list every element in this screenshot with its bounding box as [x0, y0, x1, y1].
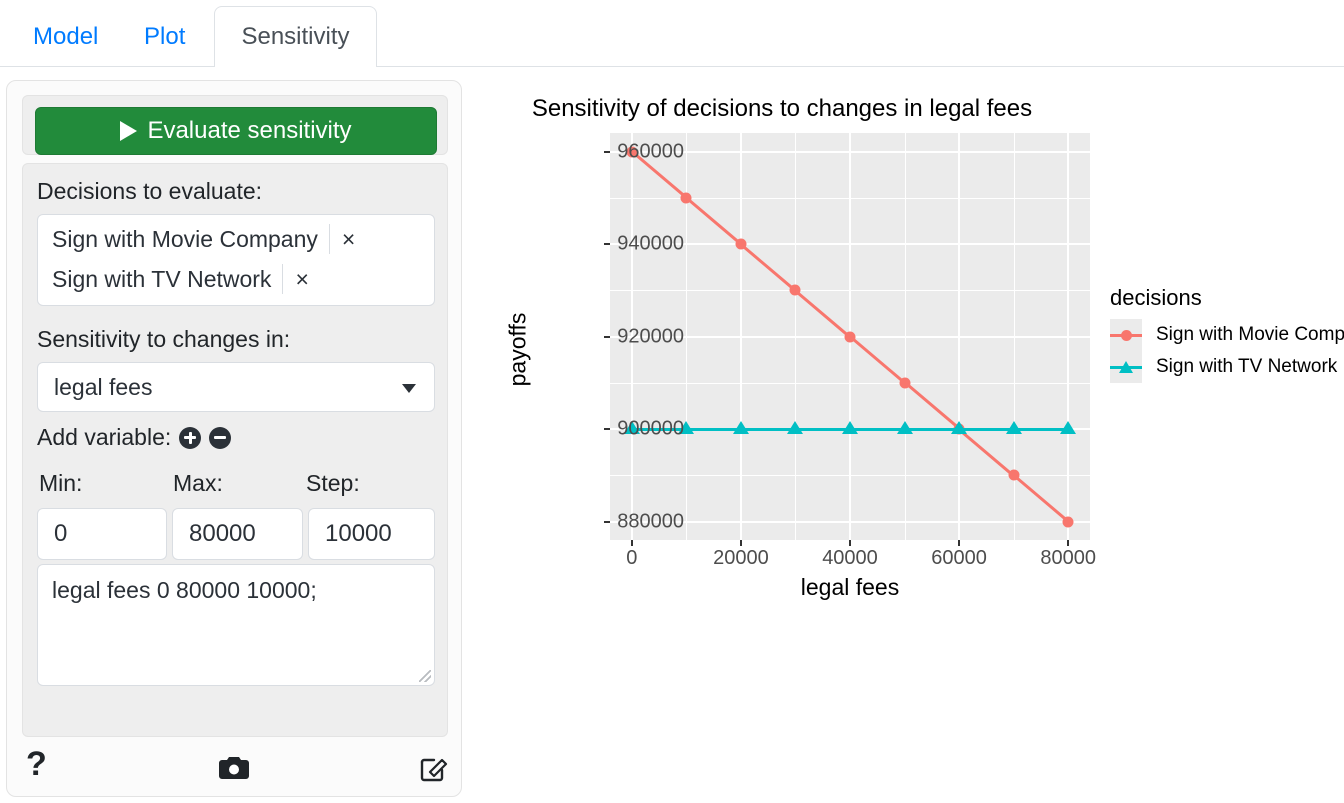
- series-line: [685, 197, 741, 246]
- variable-definition-text: legal fees 0 80000 10000;: [52, 577, 317, 603]
- data-point: [1060, 421, 1076, 434]
- data-point: [845, 331, 856, 342]
- camera-icon-svg: [218, 755, 250, 781]
- chart-title: Sensitivity of decisions to changes in l…: [466, 95, 1098, 123]
- decision-token[interactable]: Sign with Movie Company ×: [38, 219, 434, 259]
- min-input[interactable]: 0: [37, 508, 167, 560]
- variable-select[interactable]: legal fees: [37, 362, 435, 412]
- series-line: [958, 428, 1014, 477]
- decision-token-label: Sign with Movie Company: [52, 226, 318, 253]
- series-line: [740, 243, 796, 292]
- data-point: [1006, 421, 1022, 434]
- gridline-major: [1067, 133, 1069, 540]
- decision-token-label: Sign with TV Network: [52, 266, 271, 293]
- x-tick-mark: [1067, 540, 1069, 546]
- data-point: [897, 421, 913, 434]
- data-point: [735, 239, 746, 250]
- x-tick-mark: [740, 540, 742, 546]
- y-tick-label: 900000: [617, 418, 684, 441]
- series-line: [1013, 474, 1069, 523]
- legend-key-movie: [1110, 319, 1142, 351]
- data-point: [899, 377, 910, 388]
- tab-sensitivity[interactable]: Sensitivity: [214, 6, 377, 67]
- remove-decision-icon[interactable]: ×: [342, 228, 355, 251]
- tab-plot-label: Plot: [144, 23, 185, 51]
- token-divider: [329, 224, 330, 254]
- min-label: Min:: [39, 470, 82, 497]
- series-line: [794, 289, 850, 338]
- tab-bar: Model Plot Sensitivity: [0, 0, 1344, 67]
- remove-variable-button[interactable]: [209, 427, 231, 449]
- triangle-marker-icon: [1119, 361, 1133, 373]
- x-axis-title: legal fees: [610, 574, 1090, 601]
- step-label: Step:: [306, 470, 360, 497]
- data-point: [787, 421, 803, 434]
- circle-marker-icon: [1121, 330, 1132, 341]
- data-point: [681, 192, 692, 203]
- variable-definition-textarea[interactable]: legal fees 0 80000 10000;: [37, 564, 435, 686]
- add-variable-label: Add variable:: [37, 424, 171, 451]
- legend-label: Sign with TV Network: [1156, 356, 1337, 378]
- y-tick-mark: [604, 243, 610, 245]
- add-variable-button[interactable]: [179, 427, 201, 449]
- edit-icon-svg: [418, 753, 448, 783]
- tab-plot[interactable]: Plot: [125, 6, 204, 67]
- camera-icon[interactable]: [218, 755, 250, 786]
- sensitivity-chart: Sensitivity of decisions to changes in l…: [466, 80, 1344, 640]
- run-well: Evaluate sensitivity: [22, 95, 448, 155]
- data-point: [842, 421, 858, 434]
- legend-item[interactable]: Sign with TV Network: [1110, 351, 1344, 383]
- x-tick-mark: [958, 540, 960, 546]
- legend-item[interactable]: Sign with Movie Company: [1110, 319, 1344, 351]
- gridline-major: [740, 133, 742, 540]
- y-tick-mark: [604, 151, 610, 153]
- y-tick-label: 920000: [617, 325, 684, 348]
- y-tick-label: 960000: [617, 140, 684, 163]
- decision-token[interactable]: Sign with TV Network ×: [38, 259, 434, 299]
- help-icon[interactable]: ?: [26, 745, 47, 784]
- x-tick-mark: [631, 540, 633, 546]
- y-axis-title: payoffs: [505, 250, 532, 450]
- tab-model[interactable]: Model: [14, 6, 117, 67]
- data-point: [790, 285, 801, 296]
- x-tick-label: 80000: [1040, 547, 1096, 570]
- textarea-resize-handle[interactable]: [419, 670, 431, 682]
- step-input[interactable]: 10000: [308, 508, 435, 560]
- y-tick-label: 880000: [617, 510, 684, 533]
- x-tick-mark: [849, 540, 851, 546]
- tab-sensitivity-label: Sensitivity: [241, 23, 349, 51]
- sensitivity-to-label: Sensitivity to changes in:: [37, 326, 290, 353]
- sidebar-panel: Evaluate sensitivity Decisions to evalua…: [6, 80, 462, 797]
- y-tick-label: 940000: [617, 233, 684, 256]
- legend-label: Sign with Movie Company: [1156, 324, 1344, 346]
- evaluate-sensitivity-button[interactable]: Evaluate sensitivity: [35, 107, 437, 155]
- decisions-label: Decisions to evaluate:: [37, 178, 262, 205]
- decisions-token-input[interactable]: Sign with Movie Company × Sign with TV N…: [37, 214, 435, 306]
- play-icon: [120, 121, 137, 141]
- legend-key-tv: [1110, 351, 1142, 383]
- x-tick-label: 60000: [931, 547, 987, 570]
- token-divider: [282, 264, 283, 294]
- legend-title: decisions: [1110, 285, 1344, 311]
- remove-decision-icon[interactable]: ×: [295, 268, 308, 291]
- chart-legend: decisions Sign with Movie Company Sign w…: [1110, 285, 1344, 383]
- y-tick-mark: [604, 336, 610, 338]
- gridline-major: [958, 133, 960, 540]
- plus-icon-v: [189, 432, 192, 444]
- data-point: [733, 421, 749, 434]
- max-input[interactable]: 80000: [172, 508, 303, 560]
- x-tick-label: 40000: [822, 547, 878, 570]
- y-tick-mark: [604, 428, 610, 430]
- minus-icon: [214, 436, 226, 439]
- y-tick-mark: [604, 521, 610, 523]
- series-line: [849, 335, 905, 384]
- data-point: [951, 421, 967, 434]
- data-point: [1063, 516, 1074, 527]
- chevron-down-icon: [402, 384, 416, 393]
- add-variable-row: Add variable:: [37, 424, 231, 451]
- max-label: Max:: [173, 470, 223, 497]
- controls-well: Decisions to evaluate: Sign with Movie C…: [22, 163, 448, 737]
- x-tick-label: 0: [626, 547, 637, 570]
- tab-model-label: Model: [33, 23, 98, 51]
- sidebar-footer: ?: [22, 743, 448, 789]
- edit-icon[interactable]: [418, 753, 448, 788]
- evaluate-sensitivity-label: Evaluate sensitivity: [147, 117, 351, 145]
- variable-select-value: legal fees: [54, 374, 152, 401]
- data-point: [1008, 470, 1019, 481]
- x-tick-label: 20000: [713, 547, 769, 570]
